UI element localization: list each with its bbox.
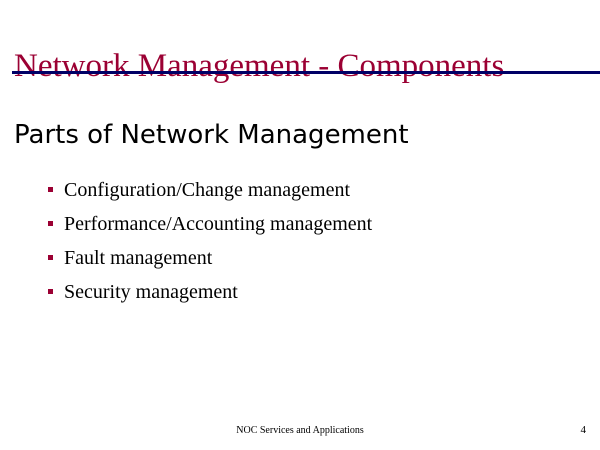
list-item: Fault management [46, 244, 566, 278]
bullet-list: Configuration/Change management Performa… [46, 176, 566, 312]
presentation-slide: Network Management - Components Parts of… [0, 0, 600, 450]
title-divider-rule [12, 71, 600, 74]
slide-subtitle: Parts of Network Management [14, 119, 409, 151]
slide-title: Network Management - Components [14, 47, 504, 85]
slide-page-number: 4 [581, 423, 587, 437]
list-item-label: Configuration/Change management [64, 176, 350, 204]
list-item: Security management [46, 278, 566, 312]
bullet-square-icon [48, 289, 53, 294]
bullet-square-icon [48, 255, 53, 260]
bullet-square-icon [48, 187, 53, 192]
list-item-label: Security management [64, 278, 238, 306]
list-item: Configuration/Change management [46, 176, 566, 210]
bullet-square-icon [48, 221, 53, 226]
slide-footer-note: NOC Services and Applications [0, 424, 600, 437]
list-item-label: Fault management [64, 244, 212, 272]
list-item: Performance/Accounting management [46, 210, 566, 244]
list-item-label: Performance/Accounting management [64, 210, 372, 238]
